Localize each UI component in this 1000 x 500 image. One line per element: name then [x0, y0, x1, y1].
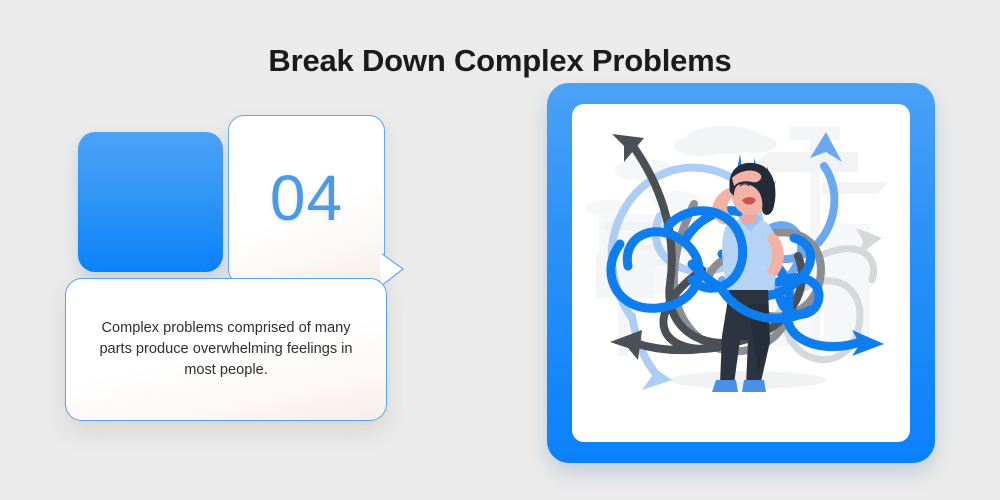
page-title: Break Down Complex Problems	[0, 43, 1000, 79]
slide-canvas: Break Down Complex Problems 04 Complex p…	[0, 0, 1000, 500]
description-callout-card: Complex problems comprised of many parts…	[65, 278, 387, 421]
number-callout-card: 04	[228, 115, 385, 285]
person-shoe-left	[712, 380, 738, 392]
description-text: Complex problems comprised of many parts…	[88, 318, 364, 380]
step-number: 04	[270, 166, 343, 230]
stressed-woman-illustration-icon	[572, 104, 910, 442]
person-shoe-right	[742, 380, 766, 392]
illustration-panel	[572, 104, 910, 442]
left-content-block: 04 Complex problems comprised of many pa…	[60, 105, 405, 435]
accent-square	[78, 132, 223, 272]
number-card-tail-icon	[381, 253, 407, 287]
